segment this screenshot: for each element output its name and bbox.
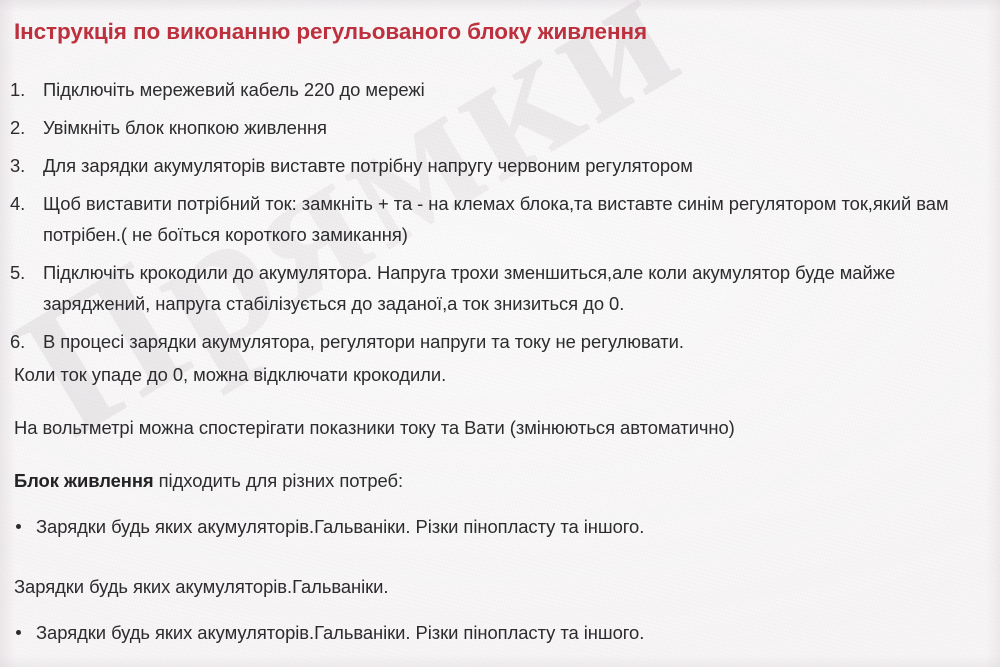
bullet-dot-icon (16, 630, 21, 635)
instruction-steps-list: 1. Підключіть мережевий кабель 220 до ме… (0, 74, 1000, 364)
list-item: 2. Увімкніть блок кнопкою живлення (0, 112, 1000, 143)
list-item-text: Щоб виставити потрібний ток: замкніть + … (43, 188, 1000, 250)
note-voltmeter: На вольтметрі можна спостерігати показни… (14, 414, 735, 442)
uses-heading: Блок живлення підходить для різних потре… (14, 467, 403, 495)
uses-heading-rest: підходить для різних потреб: (154, 470, 403, 491)
list-item: Зарядки будь яких акумуляторів.Гальванік… (14, 619, 644, 647)
uses-heading-bold: Блок живлення (14, 470, 154, 491)
bullet-item-text: Зарядки будь яких акумуляторів.Гальванік… (36, 516, 644, 537)
page-title: Інструкція по виконанню регульованого бл… (14, 19, 647, 45)
bullet-dot-icon (16, 524, 21, 529)
list-item: Зарядки будь яких акумуляторів.Гальванік… (14, 513, 644, 541)
list-item: 1. Підключіть мережевий кабель 220 до ме… (0, 74, 1000, 105)
list-item-text: Увімкніть блок кнопкою живлення (43, 112, 1000, 143)
list-item-marker: 3. (10, 150, 38, 181)
list-item: 3. Для зарядки акумуляторів виставте пот… (0, 150, 1000, 181)
list-item: 6. В процесі зарядки акумулятора, регуля… (0, 326, 1000, 357)
list-item-text: Підключіть крокодили до акумулятора. Нап… (43, 257, 1000, 319)
list-item-marker: 2. (10, 112, 38, 143)
list-item: 4. Щоб виставити потрібний ток: замкніть… (0, 188, 1000, 250)
list-item-marker: 1. (10, 74, 38, 105)
note-discharge: Коли ток упаде до 0, можна відключати кр… (14, 361, 446, 389)
list-item-marker: 4. (10, 188, 38, 219)
list-item-marker: 5. (10, 257, 38, 288)
list-item: 5. Підключіть крокодили до акумулятора. … (0, 257, 1000, 319)
uses-plain-line: Зарядки будь яких акумуляторів.Гальванік… (14, 573, 388, 601)
list-item-marker: 6. (10, 326, 38, 357)
bullet-item-text: Зарядки будь яких акумуляторів.Гальванік… (36, 622, 644, 643)
list-item-text: Підключіть мережевий кабель 220 до мереж… (43, 74, 1000, 105)
list-item-text: В процесі зарядки акумулятора, регулятор… (43, 326, 1000, 357)
list-item-text: Для зарядки акумуляторів виставте потріб… (43, 150, 1000, 181)
document-page: Прямки Інструкція по виконанню регульова… (0, 0, 1000, 667)
